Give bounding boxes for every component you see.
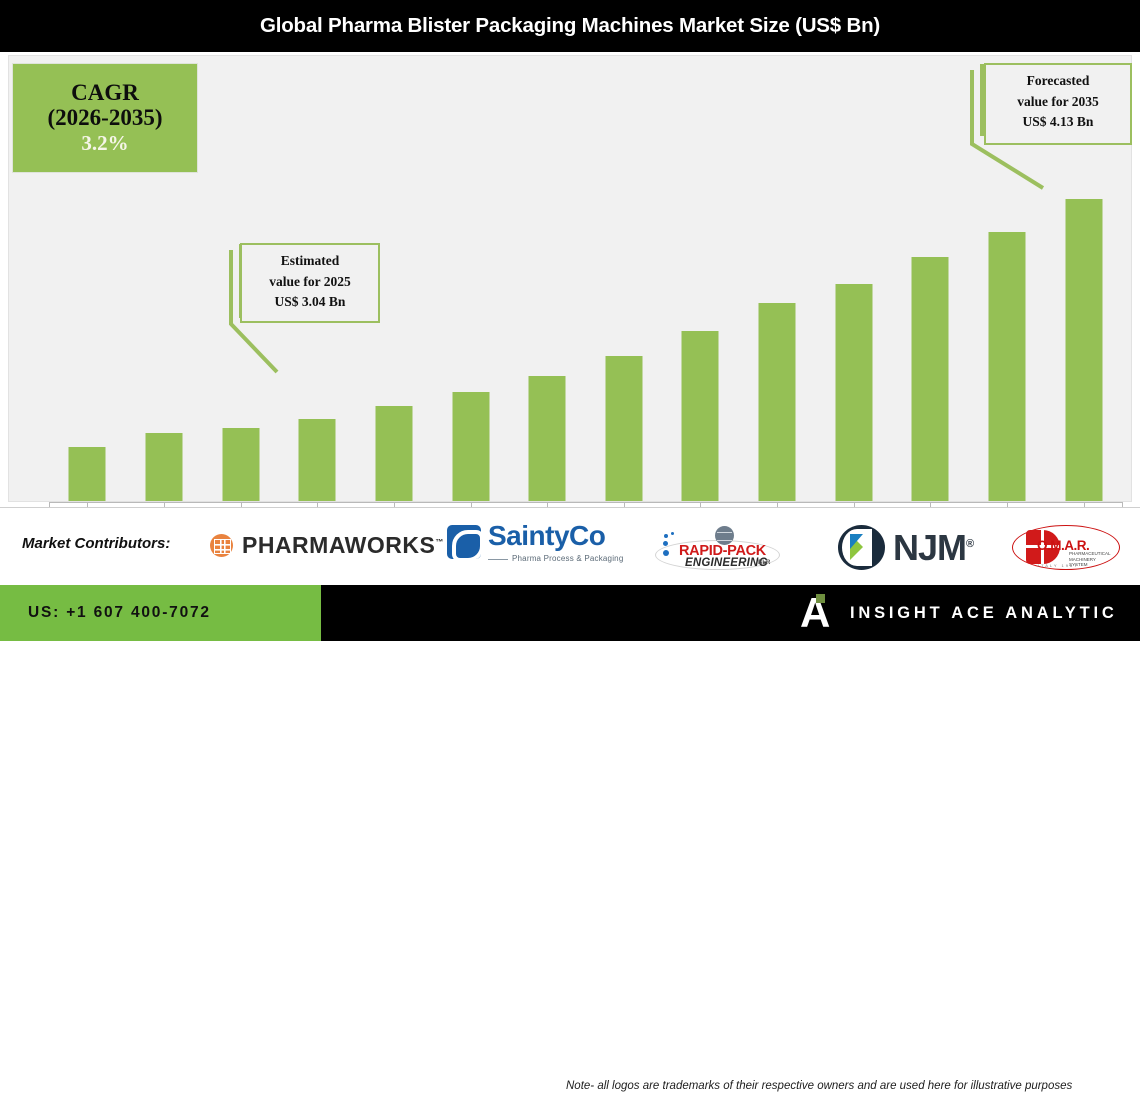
njm-wordmark: NJM® [893,527,973,569]
bar-2030[interactable] [682,331,719,501]
bar-2029[interactable] [605,356,642,501]
saintyco-tagline: Pharma Process & Packaging [488,554,623,563]
footer-phone[interactable]: US: +1 607 400-7072 [28,604,211,622]
cagr-label: CAGR [71,80,139,106]
bar-2026[interactable] [375,406,412,501]
x-axis-line [49,502,1123,503]
saintyco-swirl-icon [447,525,481,559]
footer-contact-block: US: +1 607 400-7072 [0,585,321,641]
callout-forecasted-line2: value for 2035 [986,92,1130,113]
callout-estimated-line2: value for 2025 [242,272,378,293]
bar-2035[interactable] [1065,199,1102,501]
bar-2024[interactable] [222,428,259,501]
bar-slot [662,54,739,501]
callout-forecasted-line1: Forecasted [986,71,1130,92]
logo-pharmaworks: PHARMAWORKS™ [210,532,444,559]
callout-estimated-2025: Estimated value for 2025 US$ 3.04 Bn [240,243,380,323]
bar-slot [586,54,663,501]
bar-slot [892,54,969,501]
logo-njm: NJM® [838,525,973,570]
bar-2028[interactable] [529,376,566,501]
bar-2027[interactable] [452,392,489,501]
contributors-band: Market Contributors: PHARMAWORKS™ Sainty… [0,507,1140,585]
callout-estimated-line3: US$ 3.04 Bn [242,292,378,313]
footer-brand-name: INSIGHT ACE ANALYTIC [850,604,1118,623]
njm-emblem-icon [838,525,885,570]
bar-series [49,54,1122,501]
bar-2031[interactable] [759,303,796,501]
pharmaworks-wordmark: PHARMAWORKS™ [242,532,444,559]
rapid-pack-engineering: ENGINEERING [685,557,768,569]
insight-ace-logo-icon: A [800,596,826,630]
callout-forecasted-line3: US$ 4.13 Bn [986,112,1130,133]
bar-2022[interactable] [69,447,106,501]
pharmaworks-grid-icon [210,534,233,557]
rapid-pack-suffix: BLR [758,560,770,566]
page-title: Global Pharma Blister Packaging Machines… [260,14,880,38]
bar-2033[interactable] [912,257,949,501]
cagr-period: (2026-2035) [48,105,163,131]
footer-bar: US: +1 607 400-7072 A INSIGHT ACE ANALYT… [0,585,1140,641]
title-bar: Global Pharma Blister Packaging Machines… [0,0,1140,52]
trademark-note: Note- all logos are trademarks of their … [566,1079,1138,1093]
bar-slot [432,54,509,501]
logo-omar: O.M.A.R. PHARMACEUTICAL MACHINERY SYSTEM… [1012,525,1122,571]
cagr-badge: CAGR (2026-2035) 3.2% [12,63,198,173]
bar-slot [815,54,892,501]
bar-2032[interactable] [835,284,872,501]
bar-slot [739,54,816,501]
omar-footnote: ITALY 1987 [1038,563,1078,568]
callout-estimated-line1: Estimated [242,251,378,272]
contributors-label: Market Contributors: [22,535,170,552]
saintyco-wordmark: SaintyCo [488,522,623,550]
bar-2025[interactable] [299,419,336,501]
footer-brand-block: A INSIGHT ACE ANALYTIC [321,585,1140,641]
bar-2023[interactable] [145,433,182,501]
logo-saintyco: SaintyCo Pharma Process & Packaging [447,522,623,563]
infographic-page: Global Pharma Blister Packaging Machines… [0,0,1140,641]
bar-slot [509,54,586,501]
bar-2034[interactable] [989,232,1026,501]
cagr-value: 3.2% [81,131,128,156]
callout-forecasted-2035: Forecasted value for 2035 US$ 4.13 Bn [984,63,1132,145]
logo-rapid-pack: RAPID-PACK ENGINEERING BLR [655,524,785,572]
